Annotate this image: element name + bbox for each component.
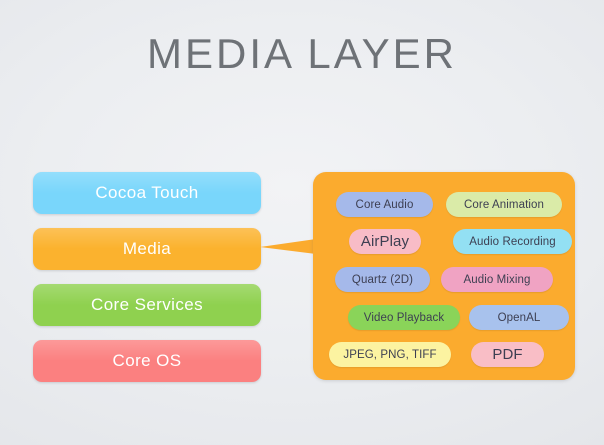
framework-tag-label: Video Playback [364, 312, 444, 324]
layer-bar-label-0: Cocoa Touch [95, 183, 198, 203]
framework-tag-core-animation[interactable]: Core Animation [446, 192, 562, 217]
framework-tag-label: OpenAL [498, 312, 541, 324]
framework-tag-pdf[interactable]: PDF [471, 342, 544, 367]
framework-tag-label: JPEG, PNG, TIFF [343, 349, 436, 361]
framework-tag-video-playback[interactable]: Video Playback [348, 305, 460, 330]
framework-tag-label: Core Audio [356, 199, 414, 211]
slide-canvas: MEDIA LAYER Cocoa Touch Media Core Servi… [0, 0, 604, 445]
media-frameworks-panel: Core AudioCore AnimationAirPlayAudio Rec… [313, 172, 575, 380]
layer-bar-label-2: Core Services [91, 295, 203, 315]
framework-tag-label: PDF [492, 346, 522, 363]
page-title: MEDIA LAYER [0, 30, 604, 78]
layer-bar-core-services[interactable]: Core Services [33, 284, 261, 326]
framework-tag-airplay[interactable]: AirPlay [349, 229, 421, 254]
framework-tag-label: Core Animation [464, 199, 544, 211]
layer-bar-core-os[interactable]: Core OS [33, 340, 261, 382]
layer-bar-cocoa-touch[interactable]: Cocoa Touch [33, 172, 261, 214]
framework-tag-label: Audio Recording [469, 236, 556, 248]
layer-bar-media[interactable]: Media [33, 228, 261, 270]
layer-bar-label-3: Core OS [113, 351, 182, 371]
framework-tag-audio-mixing[interactable]: Audio Mixing [441, 267, 553, 292]
framework-tag-label: AirPlay [361, 233, 409, 250]
framework-tag-quartz-2d[interactable]: Quartz (2D) [335, 267, 430, 292]
framework-tag-core-audio[interactable]: Core Audio [336, 192, 433, 217]
framework-tag-label: Audio Mixing [463, 274, 530, 286]
framework-tag-label: Quartz (2D) [352, 274, 413, 286]
framework-tag-jpeg-png-tiff[interactable]: JPEG, PNG, TIFF [329, 342, 451, 367]
media-to-detail-connector-icon [258, 232, 316, 260]
layer-bar-label-1: Media [123, 239, 171, 259]
framework-tag-openal[interactable]: OpenAL [469, 305, 569, 330]
framework-tag-audio-recording[interactable]: Audio Recording [453, 229, 572, 254]
